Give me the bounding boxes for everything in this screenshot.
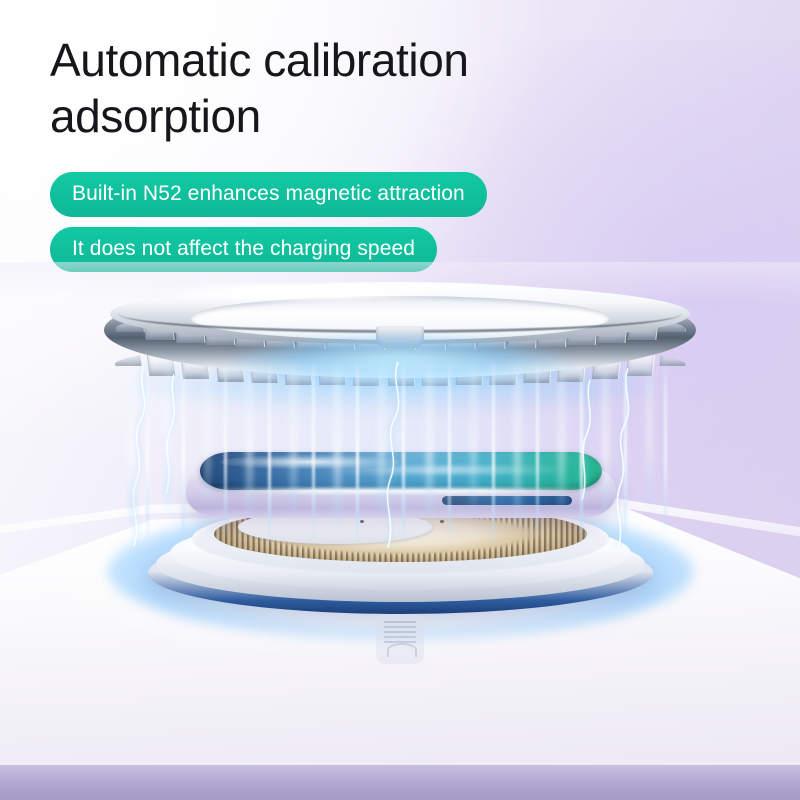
feature-badge-magnet-strength: Built-in N52 enhances magnetic attractio… — [50, 172, 487, 217]
ring-magnetic-glow — [224, 338, 576, 394]
magnet-ring — [104, 282, 696, 418]
phone-edge-highlight — [196, 488, 606, 494]
desk-front-edge — [0, 765, 800, 800]
feature-badge-charging-speed: It does not affect the charging speed — [50, 227, 437, 272]
phone-accent-bar — [442, 496, 572, 505]
phone-panel-streak — [320, 466, 570, 474]
phone-device — [186, 452, 616, 528]
phone-back-panel — [200, 452, 602, 490]
feature-badge-list: Built-in N52 enhances magnetic attractio… — [50, 172, 487, 272]
page-title: Automatic calibration adsorption — [50, 32, 710, 144]
ring-gloss-highlight — [144, 284, 464, 300]
certification-label — [376, 614, 424, 664]
product-marketing-image: Automatic calibration adsorption Built-i… — [0, 0, 800, 800]
